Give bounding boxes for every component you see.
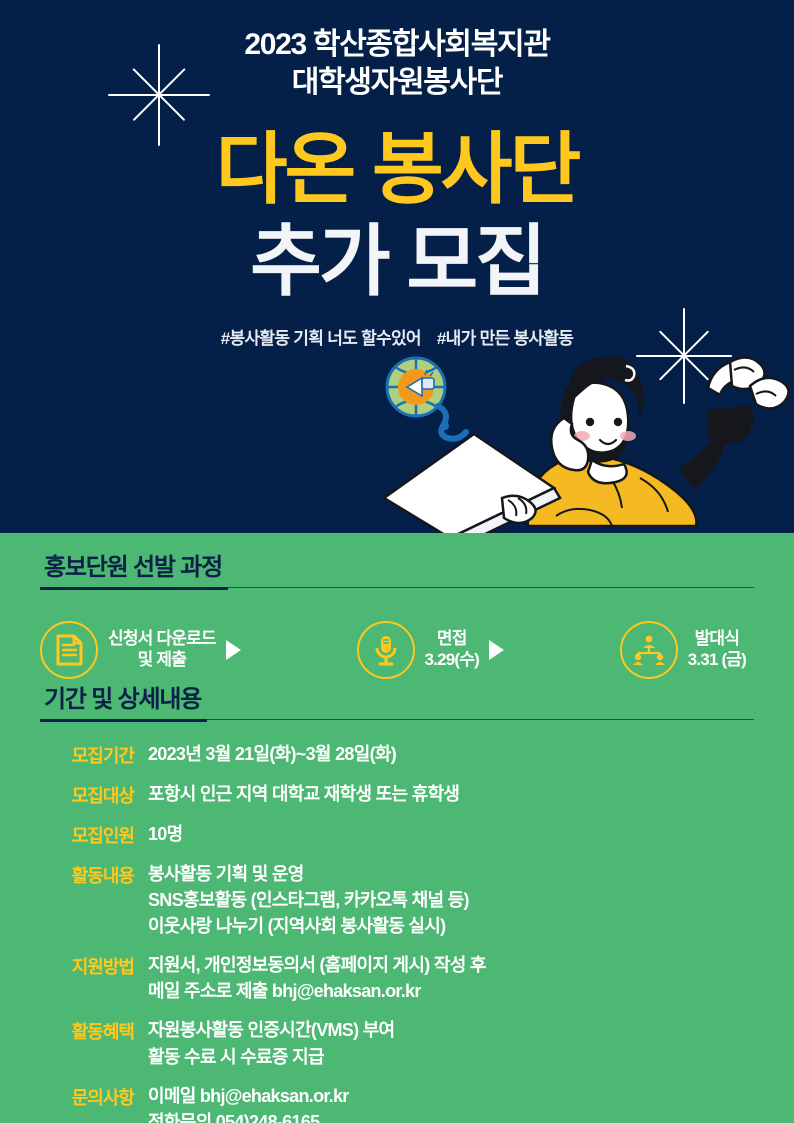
page-title: 다온 봉사단 추가 모집	[0, 123, 794, 307]
detail-label: 활동혜택	[42, 1017, 134, 1044]
detail-value: 2023년 3월 21일(화)~3월 28일(화)	[134, 741, 396, 767]
group-people-icon	[632, 635, 666, 665]
detail-label: 지원방법	[42, 952, 134, 979]
page-title-line-1: 다온 봉사단	[0, 123, 794, 215]
detail-row: 모집기간 2023년 3월 21일(화)~3월 28일(화)	[42, 741, 762, 768]
detail-value: 지원서, 개인정보동의서 (홈페이지 게시) 작성 후 메일 주소로 제출 bh…	[134, 952, 486, 1004]
detail-label: 모집대상	[42, 781, 134, 808]
info-panel: 홍보단원 선발 과정 신청서 다운로드 및 제출	[0, 533, 794, 1123]
detail-value: 봉사활동 기획 및 운영 SNS홍보활동 (인스타그램, 카카오톡 채널 등) …	[134, 861, 469, 939]
step-icon-group	[620, 621, 678, 679]
detail-label: 문의사항	[42, 1083, 134, 1110]
details-heading: 기간 및 상세내용	[40, 679, 207, 722]
details-list: 모집기간 2023년 3월 21일(화)~3월 28일(화) 모집대상 포항시 …	[42, 741, 762, 1123]
process-section-header: 홍보단원 선발 과정	[40, 547, 754, 590]
microphone-icon	[373, 634, 399, 666]
detail-row: 모집대상 포항시 인근 지역 대학교 재학생 또는 휴학생	[42, 781, 762, 808]
hero-kicker-line-2: 대학생자원봉사단	[0, 64, 794, 102]
step-icon-document	[40, 621, 98, 679]
step-label-2: 면접 3.29(수)	[415, 629, 489, 670]
step-label-1: 신청서 다운로드 및 제출	[98, 629, 226, 670]
arrow-right-icon	[226, 640, 241, 660]
detail-row: 활동내용 봉사활동 기획 및 운영 SNS홍보활동 (인스타그램, 카카오톡 채…	[42, 861, 762, 939]
hashtag-1: #봉사활동 기획 너도 할수있어	[221, 329, 421, 348]
heading-rule	[228, 587, 754, 588]
document-icon	[54, 634, 84, 666]
arrow-right-icon	[489, 640, 504, 660]
detail-value: 이메일 bhj@ehaksan.or.kr 전화문의 054)248-6165	[134, 1083, 349, 1123]
detail-value: 포항시 인근 지역 대학교 재학생 또는 휴학생	[134, 781, 459, 807]
process-steps: 신청서 다운로드 및 제출 면접 3.29(수)	[40, 611, 756, 689]
detail-value: 자원봉사활동 인증시간(VMS) 부여 활동 수료 시 수료증 지급	[134, 1017, 394, 1069]
page-title-line-2: 추가 모집	[0, 215, 794, 307]
step-label-3: 발대식 3.31 (금)	[678, 629, 756, 670]
hero-kicker-line-1: 2023 학산종합사회복지관	[0, 26, 794, 64]
detail-row: 활동혜택 자원봉사활동 인증시간(VMS) 부여 활동 수료 시 수료증 지급	[42, 1017, 762, 1069]
detail-row: 지원방법 지원서, 개인정보동의서 (홈페이지 게시) 작성 후 메일 주소로 …	[42, 952, 762, 1004]
detail-label: 모집인원	[42, 821, 134, 848]
detail-label: 모집기간	[42, 741, 134, 768]
hero-kicker: 2023 학산종합사회복지관 대학생자원봉사단	[0, 26, 794, 102]
detail-value: 10명	[134, 821, 182, 847]
hero-panel: 2023 학산종합사회복지관 대학생자원봉사단 다온 봉사단 추가 모집 #봉사…	[0, 0, 794, 533]
step-icon-microphone	[357, 621, 415, 679]
hashtag-2: #내가 만든 봉사활동	[437, 329, 573, 348]
heading-rule	[207, 719, 754, 720]
poster: 2023 학산종합사회복지관 대학생자원봉사단 다온 봉사단 추가 모집 #봉사…	[0, 0, 794, 1123]
hashtag-line: #봉사활동 기획 너도 할수있어 #내가 만든 봉사활동	[0, 324, 794, 349]
details-section-header: 기간 및 상세내용	[40, 679, 754, 722]
detail-row: 문의사항 이메일 bhj@ehaksan.or.kr 전화문의 054)248-…	[42, 1083, 762, 1123]
process-heading: 홍보단원 선발 과정	[40, 547, 228, 590]
detail-label: 활동내용	[42, 861, 134, 888]
woman-with-laptop-illustration	[378, 348, 794, 533]
detail-row: 모집인원 10명	[42, 821, 762, 848]
hero-illustration	[378, 348, 794, 533]
